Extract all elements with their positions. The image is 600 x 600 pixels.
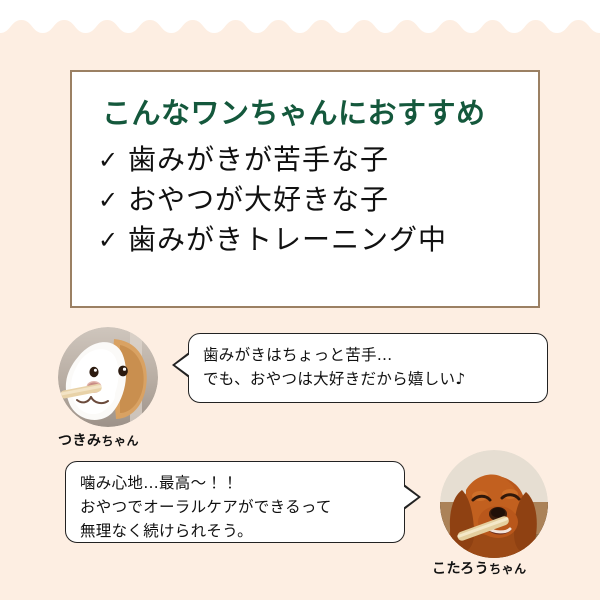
speech-bubble: 歯みがきはちょっと苦手… でも、おやつは大好きだから嬉しい♪: [188, 333, 548, 403]
dog-name-caption: こたろうちゃん: [432, 558, 527, 578]
page-title: こんなワンちゃんにおすすめ: [102, 98, 528, 130]
testimonial-quote: 噛み心地…最高〜！！ おやつでオーラルケアができるって 無理なく続けられそう。: [66, 462, 404, 552]
dog-name-suffix: ちゃん: [489, 562, 527, 576]
testimonial-quote: 歯みがきはちょっと苦手… でも、おやつは大好きだから嬉しい♪: [189, 334, 547, 400]
dog-name-main: つきみ: [58, 433, 102, 449]
bubble-tail-fill-icon: [175, 354, 190, 376]
avatar: [58, 327, 158, 427]
list-item-label: おやつが大好きな子: [128, 186, 389, 214]
check-icon: ✓: [98, 188, 128, 212]
list-item-label: 歯みがきトレーニング中: [128, 226, 447, 254]
dog-name-caption: つきみちゃん: [58, 430, 139, 450]
list-item-label: 歯みがきが苦手な子: [128, 146, 389, 174]
bubble-tail-fill-icon: [403, 486, 418, 508]
avatar: [440, 450, 548, 558]
scalloped-wave-divider: [0, 0, 600, 46]
recommendation-list: ✓ 歯みがきが苦手な子 ✓ おやつが大好きな子 ✓ 歯みがきトレーニング中: [98, 146, 528, 254]
speech-bubble: 噛み心地…最高〜！！ おやつでオーラルケアができるって 無理なく続けられそう。: [65, 461, 405, 543]
dog-name-main: こたろう: [432, 561, 489, 577]
recommendation-box-inner: こんなワンちゃんにおすすめ ✓ 歯みがきが苦手な子 ✓ おやつが大好きな子 ✓ …: [72, 72, 538, 306]
check-icon: ✓: [98, 148, 128, 172]
list-item: ✓ 歯みがきが苦手な子: [98, 146, 528, 174]
check-icon: ✓: [98, 228, 128, 252]
list-item: ✓ 歯みがきトレーニング中: [98, 226, 528, 254]
dog-name-suffix: ちゃん: [102, 434, 140, 448]
recommendation-box: こんなワンちゃんにおすすめ ✓ 歯みがきが苦手な子 ✓ おやつが大好きな子 ✓ …: [70, 70, 540, 308]
list-item: ✓ おやつが大好きな子: [98, 186, 528, 214]
promo-page: こんなワンちゃんにおすすめ ✓ 歯みがきが苦手な子 ✓ おやつが大好きな子 ✓ …: [0, 0, 600, 600]
